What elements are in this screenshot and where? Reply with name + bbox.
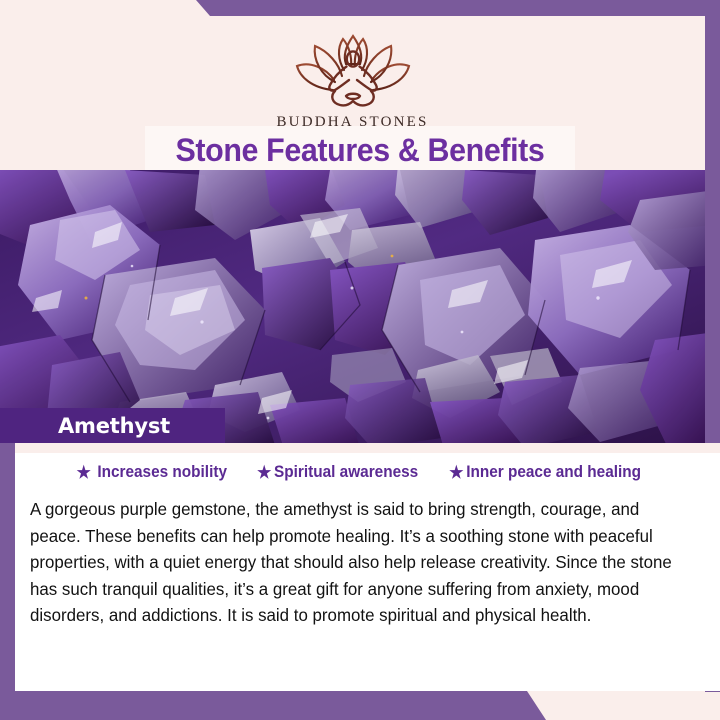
stone-name-tag: Amethyst [0, 408, 225, 443]
lotus-meditation-icon [288, 30, 418, 112]
panel-top-tint [15, 443, 720, 453]
header: BUDDHA STONES Stone Features & Benefits [0, 16, 705, 170]
left-frame-strip [0, 443, 15, 691]
top-frame-bar [0, 0, 720, 16]
infographic-page: BUDDHA STONES Stone Features & Benefits [0, 0, 720, 720]
star-icon: ★ [257, 464, 271, 481]
stone-name-label: Amethyst [58, 414, 170, 438]
amethyst-crystal-cluster-graphic [0, 170, 705, 443]
star-icon: ★ [450, 464, 464, 481]
benefit-label: Increases nobility [98, 463, 228, 482]
benefit-label: Spiritual awareness [274, 463, 418, 482]
page-title: Stone Features & Benefits [156, 132, 565, 169]
amethyst-photo [0, 170, 705, 443]
benefits-list: ★ Increases nobility ★ Spiritual awarene… [15, 463, 705, 482]
content-panel: ★ Increases nobility ★ Spiritual awarene… [15, 443, 720, 691]
benefit-item: ★ Inner peace and healing [450, 463, 642, 482]
benefit-label: Inner peace and healing [467, 463, 642, 482]
bottom-frame-bar [0, 691, 720, 720]
brand-logo: BUDDHA STONES [0, 30, 705, 131]
stone-description: A gorgeous purple gemstone, the amethyst… [30, 496, 677, 629]
benefit-item: ★ Spiritual awareness [257, 463, 418, 482]
benefit-item: ★ Increases nobility [77, 463, 227, 482]
star-icon: ★ [77, 464, 91, 481]
